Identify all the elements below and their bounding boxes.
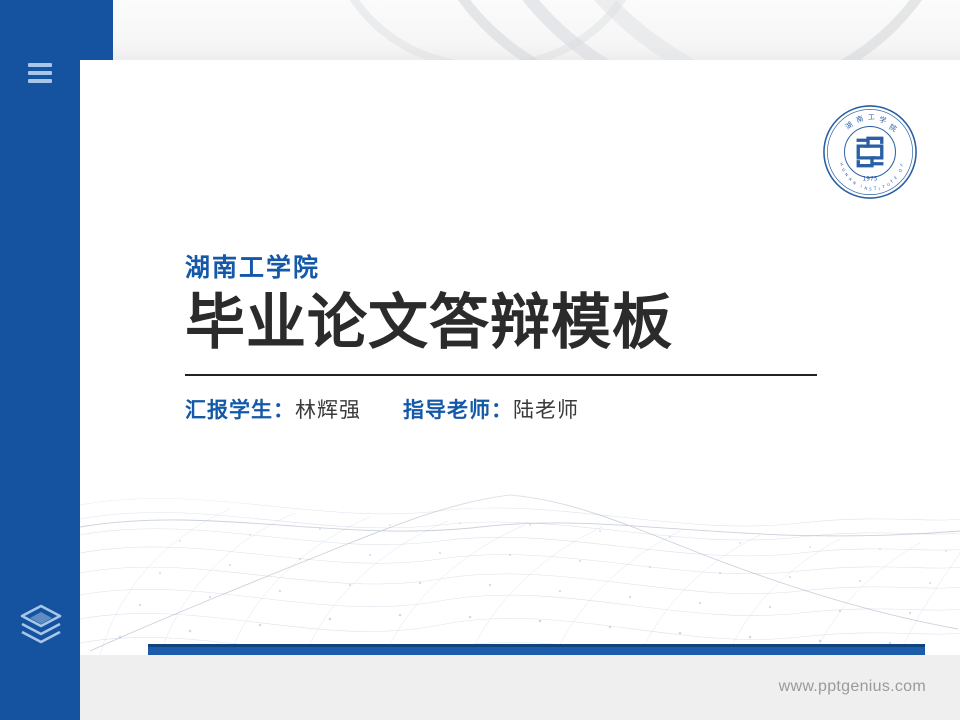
svg-text:S: S <box>869 186 873 191</box>
svg-text:1975: 1975 <box>863 176 878 182</box>
svg-text:O: O <box>897 167 903 173</box>
svg-text:工: 工 <box>868 112 876 121</box>
background-top-band <box>0 0 960 62</box>
footer-watermark-url: www.pptgenius.com <box>779 678 926 696</box>
title-block: 湖南工学院 毕业论文答辩模板 汇报学生：林辉强指导老师：陆老师 <box>185 255 845 423</box>
university-name: 湖南工学院 <box>185 255 845 283</box>
presenter-label: 汇报学生： <box>185 399 295 422</box>
svg-text:H: H <box>839 162 845 167</box>
hamburger-icon[interactable] <box>28 63 52 83</box>
svg-text:学: 学 <box>878 115 887 125</box>
presentation-slide: 湖 南 工 学 院 H U N A N I N S T I <box>80 60 960 655</box>
svg-text:A: A <box>848 176 853 182</box>
hamburger-bar <box>28 79 52 83</box>
slide-viewer: 湖 南 工 学 院 H U N A N I N S T I <box>0 0 960 720</box>
presenter-name: 林辉强 <box>295 399 361 422</box>
university-seal-logo: 湖 南 工 学 院 H U N A N I N S T I <box>821 103 919 201</box>
svg-text:E: E <box>893 174 898 180</box>
credits-line: 汇报学生：林辉强指导老师：陆老师 <box>185 398 845 423</box>
mesh-wave-graphic <box>80 465 960 655</box>
svg-text:湖: 湖 <box>843 120 854 131</box>
advisor-name: 陆老师 <box>513 399 579 422</box>
svg-text:南: 南 <box>855 114 865 125</box>
svg-text:F: F <box>899 162 905 167</box>
page-title: 毕业论文答辩模板 <box>185 289 845 356</box>
svg-text:院: 院 <box>888 122 898 133</box>
hamburger-bar <box>28 71 52 75</box>
svg-text:T: T <box>881 184 886 190</box>
hamburger-bar <box>28 63 52 67</box>
svg-text:T: T <box>873 186 877 191</box>
svg-text:I: I <box>878 186 880 191</box>
title-divider <box>185 374 817 376</box>
advisor-label: 指导老师： <box>403 399 513 422</box>
svg-text:N: N <box>864 185 868 191</box>
svg-text:U: U <box>841 167 847 173</box>
svg-text:N: N <box>844 172 850 178</box>
svg-text:I: I <box>860 184 863 189</box>
svg-text:N: N <box>852 180 857 186</box>
layers-icon[interactable] <box>18 602 64 646</box>
slide-bottom-bar <box>148 644 925 655</box>
